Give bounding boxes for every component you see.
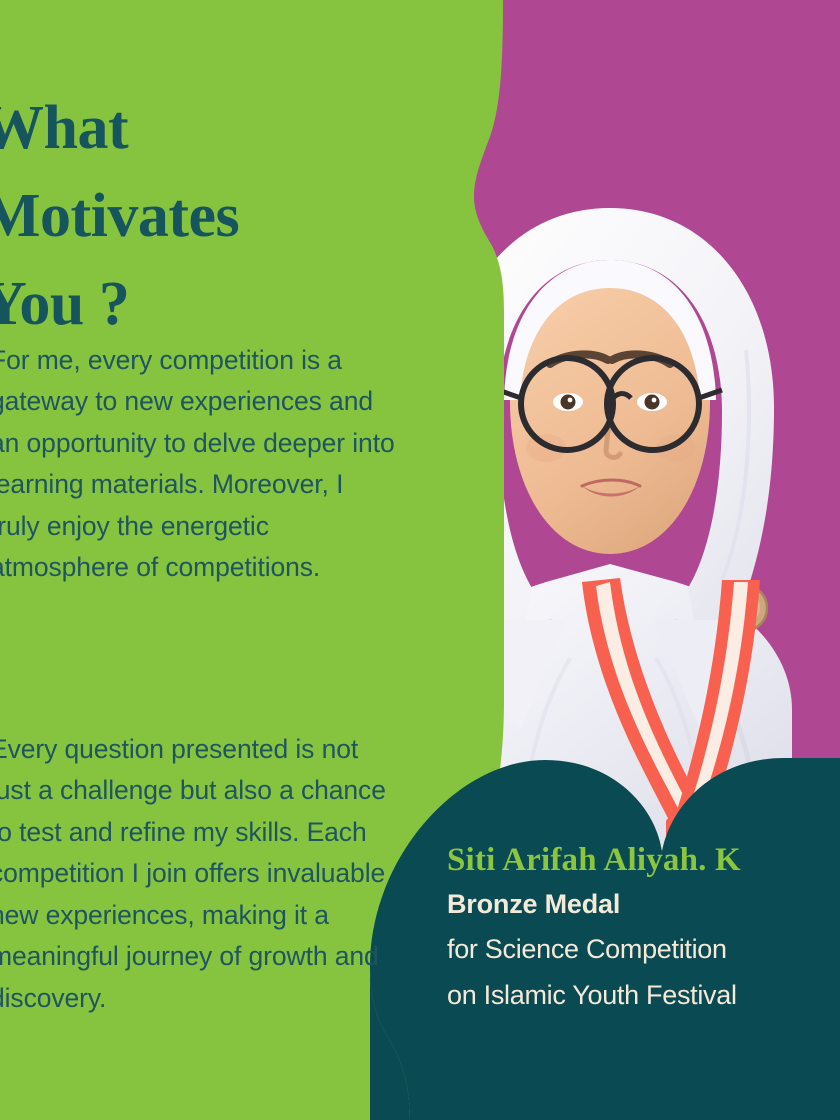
heading-line-2: Motivates — [0, 172, 402, 260]
heading-line-1: What — [0, 84, 402, 172]
testimonial-poster: What Motivates You ? For me, every compe… — [0, 0, 840, 1120]
testimonial-paragraph-2: Every question presented is not just a c… — [0, 729, 400, 1020]
page-title: What Motivates You ? — [0, 84, 402, 348]
award-card-text: Siti Arifah Aliyah. K Bronze Medal for S… — [447, 838, 840, 1018]
heading-line-3: You ? — [0, 260, 402, 348]
student-name: Siti Arifah Aliyah. K — [447, 838, 840, 882]
award-detail-line-1: for Science Competition — [447, 926, 840, 972]
award-detail-line-2: on Islamic Youth Festival — [447, 972, 840, 1018]
testimonial-paragraph-1: For me, every competition is a gateway t… — [0, 340, 400, 589]
medal-label: Bronze Medal — [447, 882, 840, 926]
